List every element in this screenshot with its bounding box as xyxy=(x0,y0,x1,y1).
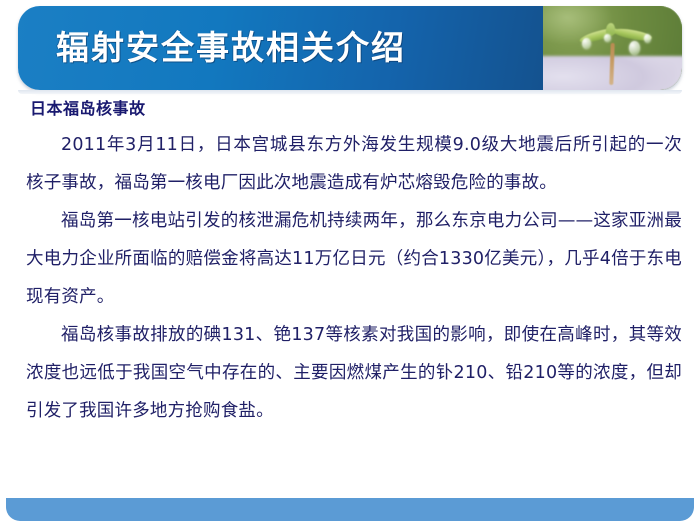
header-underline-divider xyxy=(18,90,682,94)
footer-accent-bar xyxy=(6,498,694,521)
slide-canvas: 辐射安全事故相关介绍 日本福岛核事故 2011年3月11日，日本宫城县东方外海发… xyxy=(0,0,700,525)
body-paragraph-2: 福岛第一核电站引发的核泄漏危机持续两年，那么东京电力公司——这家亚洲最大电力企业… xyxy=(26,202,682,316)
header-photo-seedling xyxy=(543,6,682,90)
body-paragraph-1: 2011年3月11日，日本宫城县东方外海发生规模9.0级大地震后所引起的一次核子… xyxy=(26,126,682,202)
header-banner: 辐射安全事故相关介绍 xyxy=(18,6,682,90)
section-subheading: 日本福岛核事故 xyxy=(30,96,700,122)
page-title: 辐射安全事故相关介绍 xyxy=(56,26,526,70)
content-area: 日本福岛核事故 2011年3月11日，日本宫城县东方外海发生规模9.0级大地震后… xyxy=(0,96,700,430)
body-paragraph-3: 福岛核事故排放的碘131、铯137等核素对我国的影响，即使在高峰时，其等效浓度也… xyxy=(26,316,682,430)
photo-blur-overlay xyxy=(543,6,682,90)
